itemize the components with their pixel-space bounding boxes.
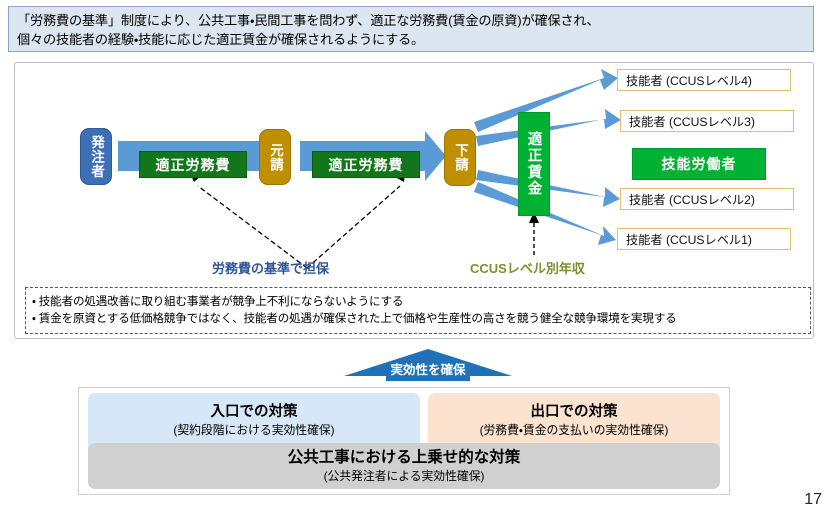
skilled-worker-box: 技能労働者 bbox=[632, 148, 766, 180]
bullet-text-2: 賃金を原資とする低価格競争ではなく、技能者の処遇が確保された上で価格や生産性の高… bbox=[39, 312, 677, 325]
header-line-2: 個々の技能者の経験・技能に応じた適正賃金が確保されるようにする。 bbox=[17, 30, 805, 49]
bullet-mark-2: ・ bbox=[32, 312, 36, 325]
bullet-text-1: 技能者の処遇改善に取り組む事業者が競争上不利にならないようにする bbox=[39, 295, 404, 308]
page-number: 17 bbox=[804, 491, 822, 509]
chip-labour-cost-2: 適正労務費 bbox=[312, 151, 420, 178]
measure-entry-title: 入口での対策 bbox=[88, 403, 420, 422]
effectiveness-arrow-label: 実効性を確保 bbox=[366, 358, 490, 378]
caption-ccus-income: CCUSレベル別年収 bbox=[470, 258, 585, 277]
measure-exit-subtitle: (労務費・賃金の支払いの実効性確保) bbox=[428, 422, 720, 439]
measure-entry-subtitle: (契約段階における実効性確保) bbox=[88, 422, 420, 439]
measure-overlay: 公共工事における上乗せ的な対策 (公共発注者による実効性確保) bbox=[88, 443, 720, 489]
ccus-level-3-box: 技能者 (CCUSレベル3) bbox=[620, 110, 794, 132]
ccus-level-2-box: 技能者 (CCUSレベル2) bbox=[620, 188, 794, 210]
node-prime-contractor: 元請 bbox=[259, 129, 291, 185]
header-banner: 「労務費の基準」制度により、公共工事・民間工事を問わず、適正な労務費(賃金の原資… bbox=[8, 6, 814, 52]
node-proper-wage: 適正賃金 bbox=[518, 112, 550, 216]
measure-overlay-title: 公共工事における上乗せ的な対策 bbox=[88, 448, 720, 468]
header-line-1: 「労務費の基準」制度により、公共工事・民間工事を問わず、適正な労務費(賃金の原資… bbox=[17, 11, 805, 30]
chip-labour-cost-1: 適正労務費 bbox=[139, 151, 247, 178]
ccus-level-4-box: 技能者 (CCUSレベル4) bbox=[617, 69, 791, 91]
node-subcontractor: 下請 bbox=[444, 129, 476, 186]
bullet-item-1: ・ 技能者の処遇改善に取り組む事業者が競争上不利にならないようにする bbox=[32, 293, 804, 310]
measure-exit-title: 出口での対策 bbox=[428, 403, 720, 422]
bullet-item-2: ・ 賃金を原資とする低価格競争ではなく、技能者の処遇が確保された上で価格や生産性… bbox=[32, 310, 804, 327]
ccus-level-1-box: 技能者 (CCUSレベル1) bbox=[617, 228, 791, 250]
measure-overlay-subtitle: (公共発注者による実効性確保) bbox=[88, 468, 720, 484]
bullet-mark-1: ・ bbox=[32, 295, 36, 308]
bullet-box: ・ 技能者の処遇改善に取り組む事業者が競争上不利にならないようにする ・ 賃金を… bbox=[25, 287, 811, 334]
node-orderer: 発注者 bbox=[80, 128, 112, 185]
caption-guarantee: 労務費の基準で担保 bbox=[212, 258, 329, 277]
